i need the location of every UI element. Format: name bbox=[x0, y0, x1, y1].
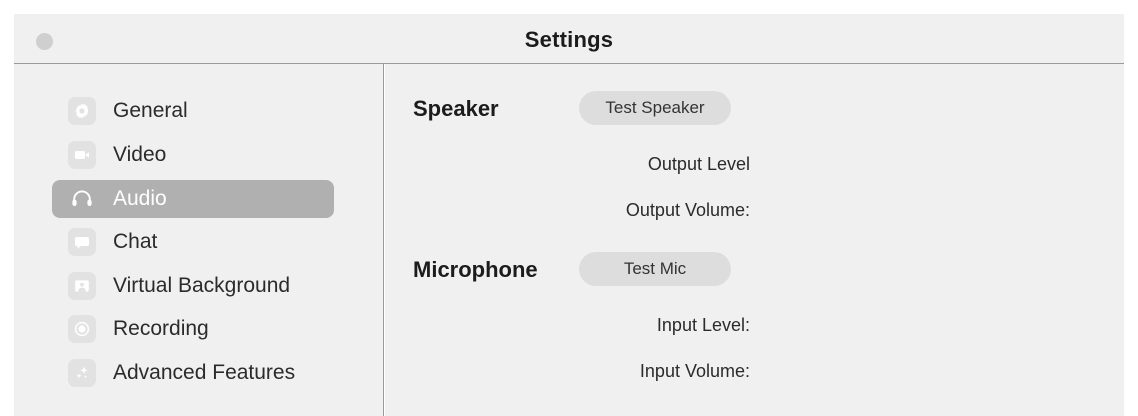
test-speaker-button[interactable]: Test Speaker bbox=[579, 91, 731, 125]
record-circle-icon bbox=[68, 315, 96, 343]
input-volume-label: Input Volume: bbox=[440, 361, 750, 382]
sidebar-item-label: Audio bbox=[113, 187, 167, 211]
test-mic-button[interactable]: Test Mic bbox=[579, 252, 731, 286]
sidebar-item-video[interactable]: Video bbox=[52, 136, 334, 174]
sidebar-item-recording[interactable]: Recording bbox=[52, 310, 334, 348]
settings-window: Settings General Video bbox=[0, 0, 1138, 416]
video-camera-icon bbox=[68, 141, 96, 169]
page-title: Settings bbox=[14, 27, 1124, 53]
sidebar-item-virtual-background[interactable]: Virtual Background bbox=[52, 267, 334, 305]
person-frame-icon bbox=[68, 272, 96, 300]
sidebar-item-advanced-features[interactable]: Advanced Features bbox=[52, 354, 334, 392]
sidebar: General Video Audio bbox=[14, 64, 384, 416]
sidebar-item-label: Advanced Features bbox=[113, 361, 295, 385]
chat-bubble-icon bbox=[68, 228, 96, 256]
headphones-icon bbox=[68, 185, 96, 213]
sidebar-item-label: Virtual Background bbox=[113, 274, 290, 298]
output-volume-label: Output Volume: bbox=[440, 200, 750, 221]
title-bar: Settings bbox=[14, 14, 1124, 64]
sidebar-item-label: Recording bbox=[113, 317, 209, 341]
microphone-section-title: Microphone bbox=[413, 257, 538, 283]
sidebar-item-label: Video bbox=[113, 143, 166, 167]
speaker-section-title: Speaker bbox=[413, 96, 499, 122]
sparkles-icon bbox=[68, 359, 96, 387]
audio-settings-panel: Speaker Test Speaker Anker Soundsync A33… bbox=[385, 64, 1124, 416]
sidebar-item-audio[interactable]: Audio bbox=[52, 180, 334, 218]
sidebar-item-label: Chat bbox=[113, 230, 157, 254]
gear-icon bbox=[68, 97, 96, 125]
sidebar-item-label: General bbox=[113, 99, 188, 123]
output-level-label: Output Level bbox=[440, 154, 750, 175]
sidebar-item-chat[interactable]: Chat bbox=[52, 223, 334, 261]
input-level-label: Input Level: bbox=[440, 315, 750, 336]
sidebar-item-general[interactable]: General bbox=[52, 92, 334, 130]
